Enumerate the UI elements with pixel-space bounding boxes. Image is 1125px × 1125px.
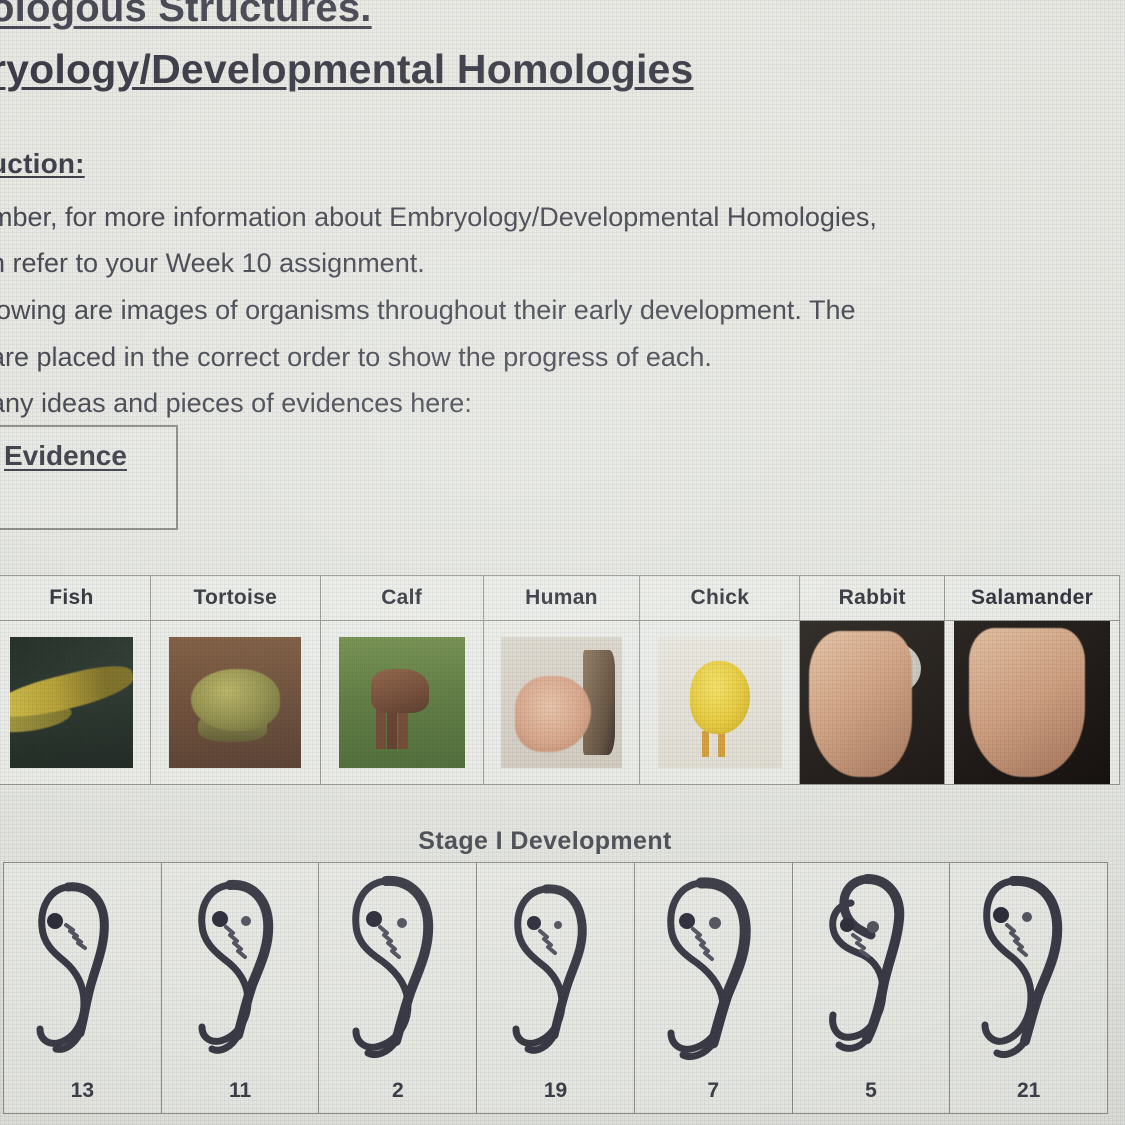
embryo-number: 11 bbox=[162, 1079, 319, 1103]
organism-cell-human bbox=[484, 621, 641, 784]
column-header-salamander: Salamander bbox=[945, 576, 1120, 620]
organism-cell-fish bbox=[0, 621, 151, 784]
rabbit-in-hand-photo bbox=[800, 621, 944, 784]
organism-cell-calf bbox=[321, 621, 484, 784]
column-header-tortoise: Tortoise bbox=[151, 576, 321, 620]
stage-label: Stage I Development bbox=[0, 827, 1090, 856]
embryo-drawing-icon bbox=[338, 869, 458, 1065]
instruction-label: uction: bbox=[0, 148, 85, 180]
embryo-number: 21 bbox=[950, 1079, 1107, 1103]
body-line-4: are placed in the correct order to show … bbox=[0, 342, 712, 373]
embryo-cell-3: 2 bbox=[319, 863, 477, 1113]
organism-cell-rabbit bbox=[800, 621, 945, 784]
column-header-human: Human bbox=[484, 576, 641, 620]
salamander-in-hand-photo bbox=[954, 621, 1110, 784]
embryo-number: 19 bbox=[477, 1079, 634, 1103]
column-header-fish: Fish bbox=[0, 576, 151, 620]
embryo-cell-2: 11 bbox=[162, 863, 320, 1113]
chick-photo bbox=[658, 637, 782, 767]
column-header-chick: Chick bbox=[640, 576, 800, 620]
organism-cell-salamander bbox=[945, 621, 1120, 784]
evidence-box[interactable]: Evidence bbox=[0, 425, 178, 530]
body-line-5: any ideas and pieces of evidences here: bbox=[0, 388, 472, 419]
fish-photo bbox=[10, 637, 132, 767]
embryo-number: 7 bbox=[635, 1079, 792, 1103]
embryo-cell-6: 5 bbox=[793, 863, 951, 1113]
embryo-cell-5: 7 bbox=[635, 863, 793, 1113]
column-header-calf: Calf bbox=[321, 576, 484, 620]
body-line-3: lowing are images of organisms throughou… bbox=[0, 295, 855, 326]
organism-table: Fish Tortoise Calf Human Chick Rabbit Sa… bbox=[0, 575, 1120, 785]
embryo-cell-1: 13 bbox=[4, 863, 162, 1113]
body-line-1: mber, for more information about Embryol… bbox=[0, 202, 877, 233]
embryo-drawing-icon bbox=[653, 869, 773, 1065]
calf-photo bbox=[339, 637, 465, 767]
body-line-2: n refer to your Week 10 assignment. bbox=[0, 248, 425, 279]
embryo-number: 13 bbox=[4, 1079, 161, 1103]
page-title: ryology/Developmental Homologies bbox=[0, 46, 694, 93]
document-page: ologous Structures. ryology/Developmenta… bbox=[0, 0, 1125, 1125]
embryo-number: 2 bbox=[319, 1079, 476, 1103]
column-header-rabbit: Rabbit bbox=[800, 576, 945, 620]
organism-cell-chick bbox=[640, 621, 800, 784]
embryo-cell-4: 19 bbox=[477, 863, 635, 1113]
embryo-number: 5 bbox=[793, 1079, 950, 1103]
evidence-box-label: Evidence bbox=[4, 440, 127, 472]
human-baby-photo bbox=[501, 637, 623, 767]
embryo-drawing-icon bbox=[496, 869, 616, 1065]
embryo-drawing-icon bbox=[180, 869, 300, 1065]
embryo-table: 13 11 2 bbox=[3, 862, 1108, 1114]
embryo-drawing-icon bbox=[969, 869, 1089, 1065]
organism-cell-tortoise bbox=[151, 621, 321, 784]
organism-table-header-row: Fish Tortoise Calf Human Chick Rabbit Sa… bbox=[0, 576, 1120, 621]
embryo-cell-7: 21 bbox=[950, 863, 1107, 1113]
previous-heading-partial: ologous Structures. bbox=[0, 0, 372, 31]
tortoise-photo bbox=[169, 637, 301, 767]
embryo-drawing-icon bbox=[22, 869, 142, 1065]
organism-table-image-row bbox=[0, 621, 1120, 784]
embryo-drawing-icon bbox=[811, 869, 931, 1065]
